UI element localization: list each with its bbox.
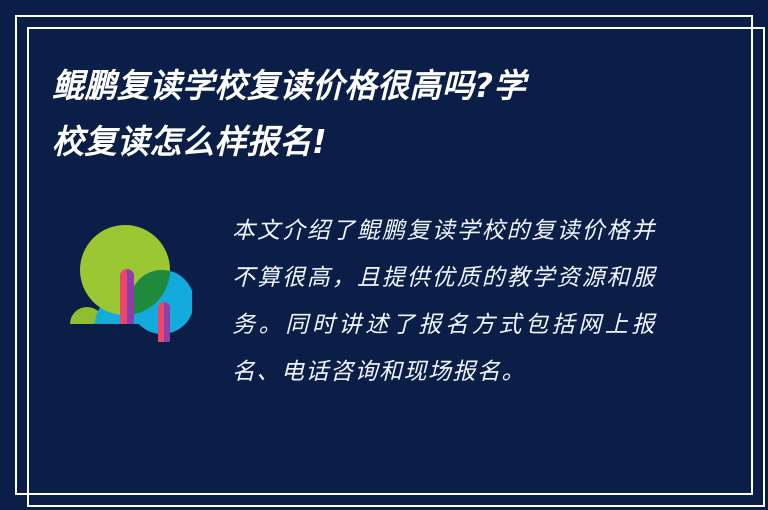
page-title: 鲲鹏复读学校复读价格很高吗?学 校复读怎么样报名! [52,58,652,170]
trunk-left-purple-lower-icon [127,294,134,324]
poster-canvas: 鲲鹏复读学校复读价格很高吗?学 校复读怎么样报名! [0,0,768,510]
trunk-right-purple-icon [164,302,170,342]
body-paragraph: 本文介绍了鲲鹏复读学校的复读价格并不算很高，且提供优质的教学资源和服务。同时讲述… [232,208,656,396]
content-row: 本文介绍了鲲鹏复读学校的复读价格并不算很高，且提供优质的教学资源和服务。同时讲述… [0,200,768,450]
two-trees-illustration [62,208,192,363]
page-title-line-2: 校复读怎么样报名! [52,114,634,170]
page-title-line-1: 鲲鹏复读学校复读价格很高吗?学 [52,58,634,114]
